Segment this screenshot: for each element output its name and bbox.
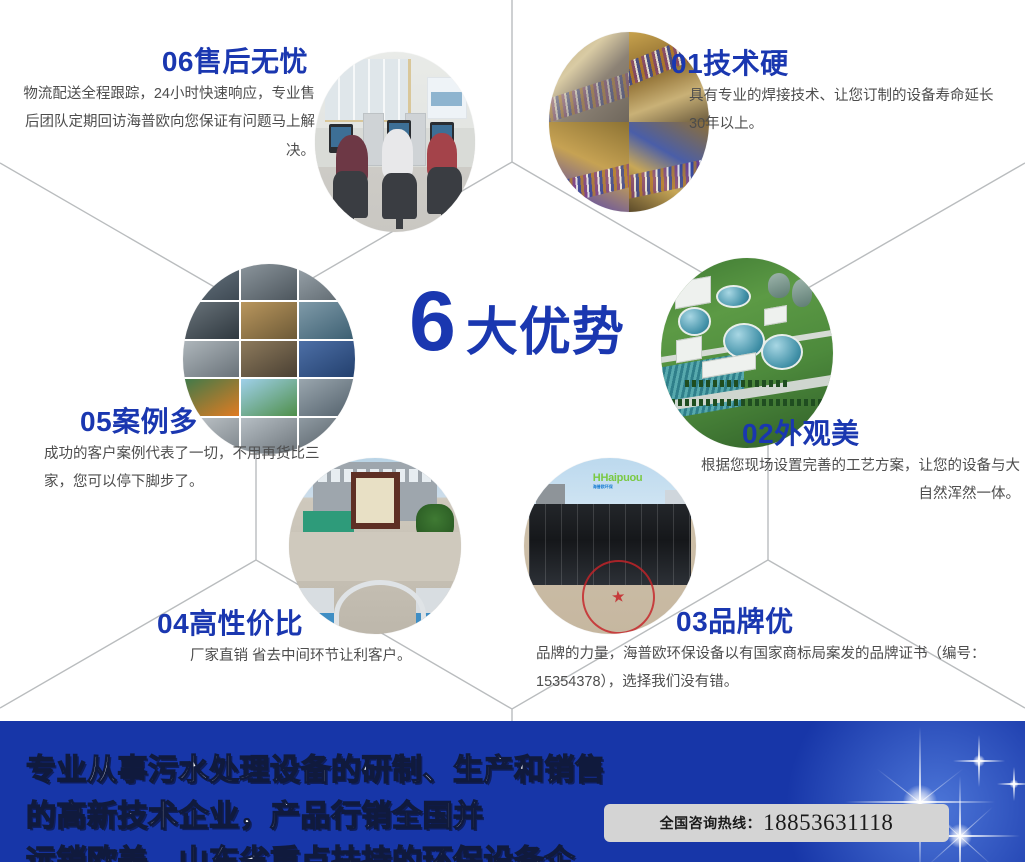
project-thumb [241,264,297,300]
advantage-block-01: 01技术硬 具有专业的焊接技术、让您订制的设备寿命延长30年以上。 [671,42,1001,139]
center-number: 6 [409,288,454,355]
center-text: 大优势 [466,290,625,365]
banner-slogan-line-1: 专业从事污水处理设备的研制、生产和销售的高新技术企业，产品行销全国并 [26,748,626,839]
project-thumb [299,302,355,338]
advantage-body-04: 厂家直销 省去中间环节让利客户。 [140,642,440,670]
advantage-body-05: 成功的客户案例代表了一切，不用再货比三家，您可以停下脚步了。 [22,440,322,497]
building-decor [675,276,711,309]
clarifier-tank-decor [678,307,711,336]
chair-decor [427,167,462,214]
project-thumb [183,341,239,377]
watermark-name: Haipuou [600,472,642,484]
project-thumb [299,341,355,377]
advantage-body-02: 根据您现场设置完善的工艺方案，让您的设备与大自然浑然一体。 [700,452,1020,509]
clarifier-tank-decor [761,334,803,370]
courtyard-ground-decor [289,532,461,581]
advantage-body-03: 品牌的力量，海普欧环保设备以有国家商标局案发的品牌证书（编号：15354378）… [536,640,1016,697]
tree-row-decor [671,399,822,407]
hotline-number: 18853631118 [763,810,893,836]
haipuou-watermark: HHaipuou 海普欧环保 [593,472,643,490]
clarifier-tank-decor [716,285,751,308]
building-decor [676,335,702,362]
project-thumb [241,302,297,338]
advantage-heading-06: 06售后无忧 [10,40,315,80]
project-thumb [183,264,239,300]
banner-slogan-line-2: 远销欧美，山东省重点扶持的环保设备企业。 [26,839,626,862]
advantage-block-04: 04高性价比 厂家直销 省去中间环节让利客户。 [140,602,440,670]
starburst-icon [997,767,1025,801]
advantage-heading-04: 04高性价比 [140,602,440,642]
hotline-label: 全国咨询热线： [660,813,762,833]
advantage-heading-05: 05案例多 [22,400,322,440]
person-decor [382,129,412,178]
chair-decor [333,171,368,218]
advantage-heading-01: 01技术硬 [671,42,1001,82]
company-signboard-decor [351,472,400,529]
six-advantages-infographic: 6 大优势 [0,0,1025,721]
weld-closeup-1 [549,32,629,122]
advantage-block-03: 03品牌优 品牌的力量，海普欧环保设备以有国家商标局案发的品牌证书（编号：153… [536,600,1016,697]
chair-decor [382,173,417,220]
advantage-block-05: 05案例多 成功的客户案例代表了一切，不用再货比三家，您可以停下脚步了。 [22,400,322,497]
advantage-block-02: 02外观美 根据您现场设置完善的工艺方案，让您的设备与大自然浑然一体。 [700,412,1020,509]
building-decor [764,305,787,326]
hotline-box[interactable]: 全国咨询热线： 18853631118 [604,804,949,842]
project-thumb [241,341,297,377]
project-thumb [299,264,355,300]
advantage-heading-03: 03品牌优 [536,600,1016,640]
advantage-heading-02: 02外观美 [700,412,1020,452]
tree-row-decor [685,380,788,388]
office-staff-photo [315,52,475,232]
project-thumb [183,302,239,338]
advantage-block-06: 06售后无忧 物流配送全程跟踪，24小时快速响应，专业售后团队定期回访海普欧向您… [10,40,315,165]
green-fence-decor [303,511,355,532]
wall-poster-decor [427,77,467,119]
center-label: 6 大优势 [392,288,642,388]
advantage-body-01: 具有专业的焊接技术、让您订制的设备寿命延长30年以上。 [671,82,1001,139]
digester-dome-decor [768,273,790,298]
advantage-body-06: 物流配送全程跟踪，24小时快速响应，专业售后团队定期回访海普欧向您保证有问题马上… [10,80,315,165]
banner-slogan-text: 专业从事污水处理设备的研制、生产和销售的高新技术企业，产品行销全国并 远销欧美，… [26,748,626,862]
digester-dome-decor [792,279,813,308]
weld-closeup-3 [549,122,629,212]
watermark-subtitle: 海普欧环保 [593,484,643,490]
